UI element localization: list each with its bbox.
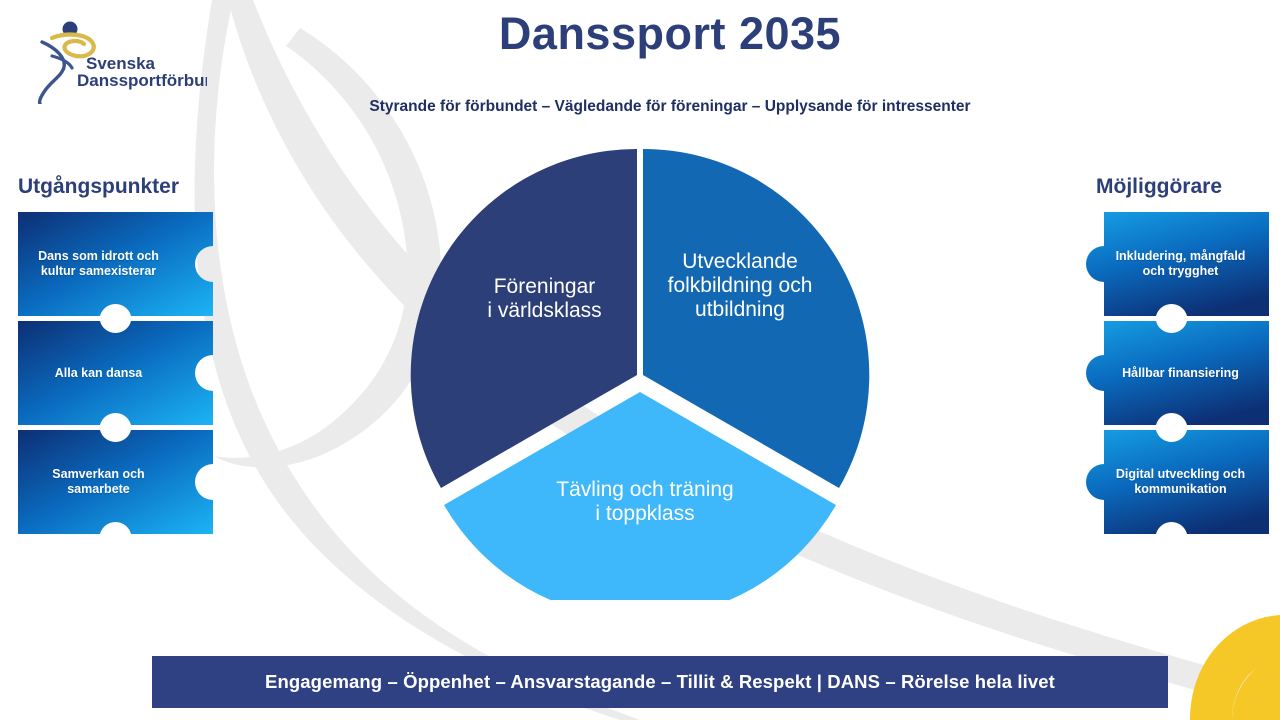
puzzle-piece-shape bbox=[18, 430, 213, 534]
logo-text-line2: Danssportförbundet bbox=[77, 71, 207, 90]
left-column-heading: Utgångspunkter bbox=[18, 175, 179, 199]
footer-banner: Engagemang – Öppenhet – Ansvarstagande –… bbox=[152, 656, 1168, 708]
puzzle-piece-shape bbox=[1074, 430, 1269, 534]
puzzle-piece-left-2[interactable]: Alla kan dansa bbox=[18, 321, 213, 425]
puzzle-piece-shape bbox=[1074, 321, 1269, 425]
strategy-pie-chart bbox=[398, 140, 888, 600]
right-column-heading: Möjliggörare bbox=[1096, 175, 1222, 199]
puzzle-piece-left-1[interactable]: Dans som idrott och kultur samexisterar bbox=[18, 212, 213, 316]
right-puzzle-column: Inkludering, mångfald och trygghet Hållb… bbox=[1074, 212, 1269, 552]
puzzle-piece-shape bbox=[18, 321, 213, 425]
left-puzzle-column: Dans som idrott och kultur samexisterar … bbox=[18, 212, 213, 552]
slide-canvas: Svenska Danssportförbundet Danssport 203… bbox=[0, 0, 1280, 720]
puzzle-piece-right-2[interactable]: Hållbar finansiering bbox=[1074, 321, 1269, 425]
svenska-danssportforbundet-logo: Svenska Danssportförbundet bbox=[22, 12, 207, 104]
footer-banner-text: Engagemang – Öppenhet – Ansvarstagande –… bbox=[265, 671, 1055, 693]
page-subtitle: Styrande för förbundet – Vägledande för … bbox=[230, 98, 1110, 116]
puzzle-piece-shape bbox=[18, 212, 213, 316]
page-title: Danssport 2035 bbox=[330, 8, 1010, 60]
puzzle-piece-left-3[interactable]: Samverkan och samarbete bbox=[18, 430, 213, 534]
puzzle-piece-right-1[interactable]: Inkludering, mångfald och trygghet bbox=[1074, 212, 1269, 316]
puzzle-piece-shape bbox=[1074, 212, 1269, 316]
puzzle-piece-right-3[interactable]: Digital utveckling och kommunikation bbox=[1074, 430, 1269, 534]
